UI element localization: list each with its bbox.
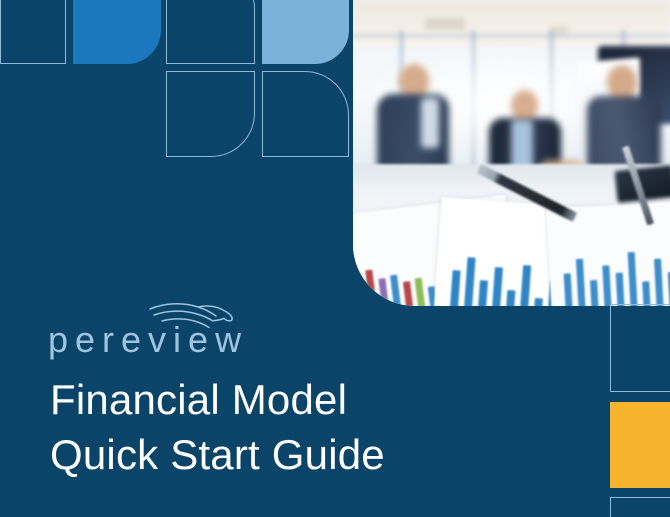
- decor-square-outline-4: [262, 71, 349, 157]
- photo-content: [353, 0, 670, 306]
- decor-square-solid-light: [262, 0, 349, 64]
- page-title: Financial Model Quick Start Guide: [50, 372, 610, 483]
- title-line-1: Financial Model: [50, 372, 610, 427]
- title-line-2: Quick Start Guide: [50, 427, 610, 482]
- person-shirt: [421, 98, 439, 148]
- decor-square-outline-5: [610, 304, 670, 392]
- decor-square-outline-1: [0, 0, 66, 64]
- decor-square-outline-3: [166, 71, 255, 157]
- ceiling-vent-icon: [425, 18, 465, 30]
- brand-wordmark: pereview: [48, 322, 248, 358]
- person-head: [607, 65, 637, 100]
- decor-square-solid-blue: [73, 0, 161, 64]
- document-cover-page: pereview Financial Model Quick Start Gui…: [0, 0, 670, 517]
- brand-logo: pereview: [48, 302, 298, 364]
- decor-square-outline-6: [610, 497, 670, 517]
- decor-square-outline-2: [166, 0, 255, 64]
- decor-square-solid-orange: [610, 402, 670, 488]
- cover-photo: [353, 0, 670, 306]
